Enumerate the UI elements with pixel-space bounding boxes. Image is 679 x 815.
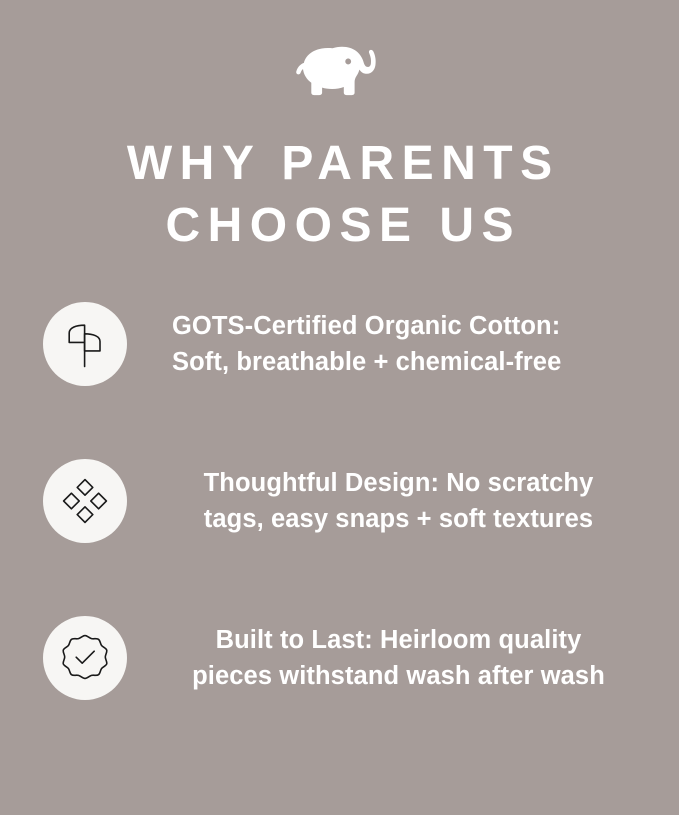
feature-item-thoughtful-design: Thoughtful Design: No scratchy tags, eas… [0, 457, 679, 614]
page-title: WHY PARENTS CHOOSE US [0, 133, 679, 257]
sprout-icon [43, 302, 127, 386]
page-title-line-2: CHOOSE US [0, 195, 679, 257]
feature-line-2: pieces withstand wash after wash [150, 658, 647, 694]
feature-list: GOTS-Certified Organic Cotton: Soft, bre… [0, 300, 679, 771]
feature-line-1: Thoughtful Design: No scratchy [150, 465, 647, 501]
feature-text-built-to-last: Built to Last: Heirloom quality pieces w… [150, 622, 647, 694]
feature-line-1: GOTS-Certified Organic Cotton: [172, 308, 669, 344]
page-title-line-1: WHY PARENTS [0, 133, 679, 195]
brand-logo [0, 38, 679, 110]
feature-line-2: tags, easy snaps + soft textures [150, 501, 647, 537]
feature-text-thoughtful-design: Thoughtful Design: No scratchy tags, eas… [150, 465, 647, 537]
badge-check-icon [43, 616, 127, 700]
elephant-icon [292, 42, 388, 106]
feature-item-organic-cotton: GOTS-Certified Organic Cotton: Soft, bre… [0, 300, 679, 457]
feature-line-1: Built to Last: Heirloom quality [150, 622, 647, 658]
feature-text-organic-cotton: GOTS-Certified Organic Cotton: Soft, bre… [150, 308, 669, 380]
feature-item-built-to-last: Built to Last: Heirloom quality pieces w… [0, 614, 679, 771]
promo-panel: WHY PARENTS CHOOSE US GOTS-Certified Org… [0, 0, 679, 815]
feature-line-2: Soft, breathable + chemical-free [172, 344, 669, 380]
four-diamonds-icon [43, 459, 127, 543]
